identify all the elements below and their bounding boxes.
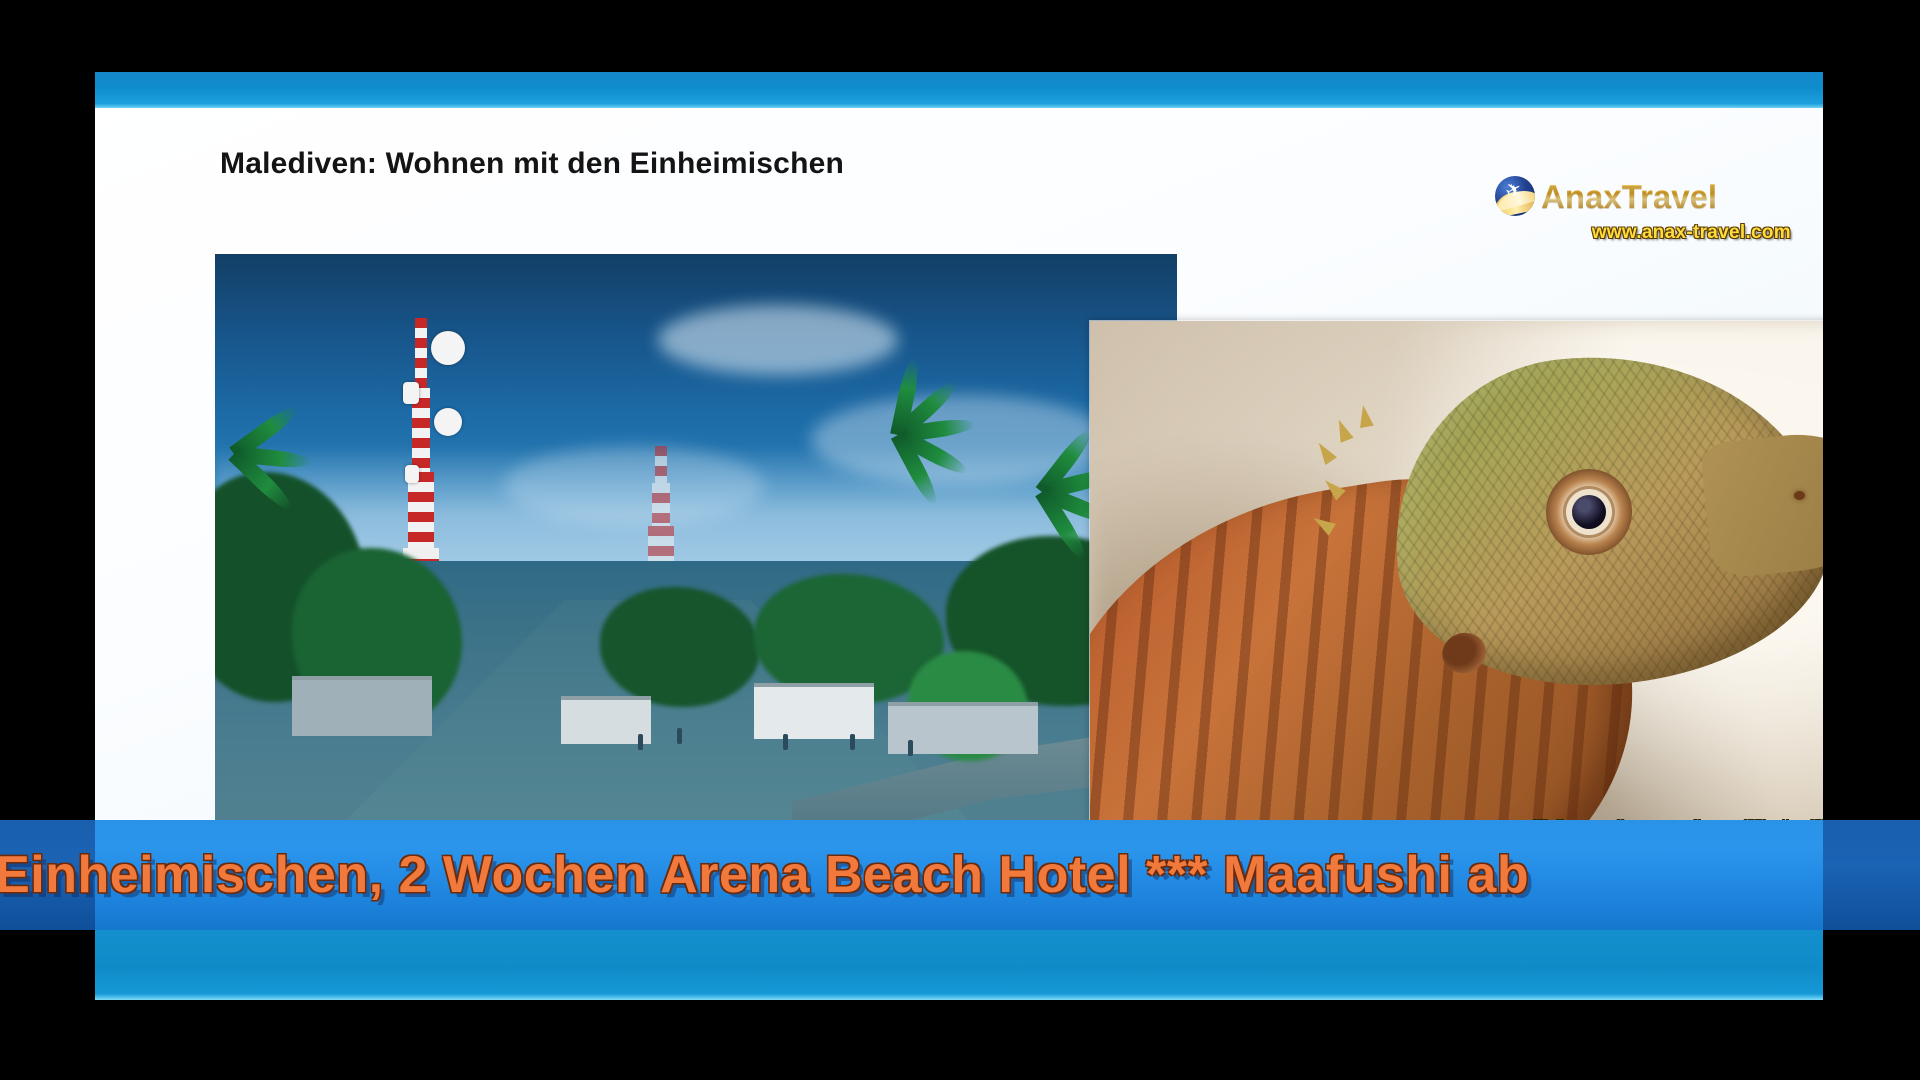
brand-name: AnaxTravel xyxy=(1541,180,1717,213)
satellite-dish-icon xyxy=(431,331,465,365)
lizard-snout xyxy=(1699,426,1823,580)
person-figure xyxy=(677,728,682,744)
photo-village-street[interactable]: Bild: Nattu / Flickr xyxy=(215,254,1177,894)
person-figure xyxy=(850,734,855,750)
person-figure xyxy=(908,740,913,756)
airplane-globe-icon: ✈ xyxy=(1495,176,1535,216)
village-building xyxy=(754,683,874,739)
satellite-dish-icon xyxy=(434,408,462,436)
brand-logo[interactable]: ✈ AnaxTravel www.anax-travel.com xyxy=(1495,176,1795,244)
antenna-box-icon xyxy=(405,465,419,483)
person-figure xyxy=(638,734,643,750)
village-building xyxy=(292,676,432,736)
slide-top-accent-bar xyxy=(95,72,1823,108)
person-figure xyxy=(783,734,788,750)
page-title: Malediven: Wohnen mit den Einheimischen xyxy=(220,147,844,181)
slide-bottom-accent-bar xyxy=(95,922,1823,1000)
cloud-shape xyxy=(658,305,898,375)
brand-url[interactable]: www.anax-travel.com xyxy=(1495,222,1795,244)
ticker-text: er Einheimischen, 2 Wochen Arena Beach H… xyxy=(0,845,1529,905)
screen: Malediven: Wohnen mit den Einheimischen … xyxy=(0,0,1920,1080)
photo-garden-lizard[interactable]: Bild: Mohamed Malik / Flickr xyxy=(1090,321,1823,889)
news-ticker-banner[interactable]: er Einheimischen, 2 Wochen Arena Beach H… xyxy=(0,820,1920,930)
ticker-right-edge xyxy=(1823,820,1920,930)
antenna-box-icon xyxy=(403,382,419,404)
lizard-eye xyxy=(1546,469,1632,555)
